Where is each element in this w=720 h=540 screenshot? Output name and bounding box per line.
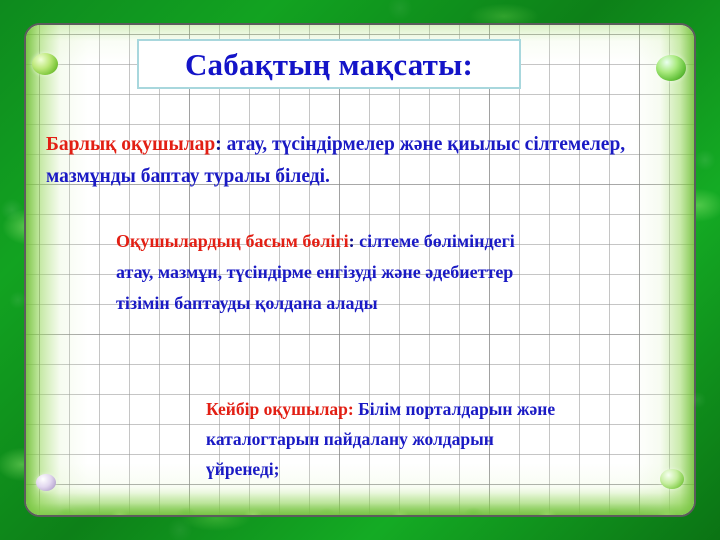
objective-paragraph-most-students: Оқушылардың басым бөлігі: сілтеме бөлімі… <box>116 226 536 319</box>
objective-paragraph-some-students: Кейбір оқушылар: Білім порталдарын және … <box>206 394 566 484</box>
slide-title-box: Сабақтың мақсаты: <box>137 39 521 89</box>
slide-content: Сабақтың мақсаты: Барлық оқушылар: атау,… <box>0 0 720 540</box>
slide-canvas: Сабақтың мақсаты: Барлық оқушылар: атау,… <box>0 0 720 540</box>
objective-1-lead: Барлық оқушылар <box>46 134 215 155</box>
objective-3-lead: Кейбір оқушылар: <box>206 399 354 419</box>
page-title: Сабақтың мақсаты: <box>185 49 473 80</box>
objective-2-lead: Оқушылардың басым бөлігі <box>116 231 349 251</box>
objective-paragraph-all-students: Барлық оқушылар: атау, түсіндірмелер жән… <box>46 129 646 193</box>
